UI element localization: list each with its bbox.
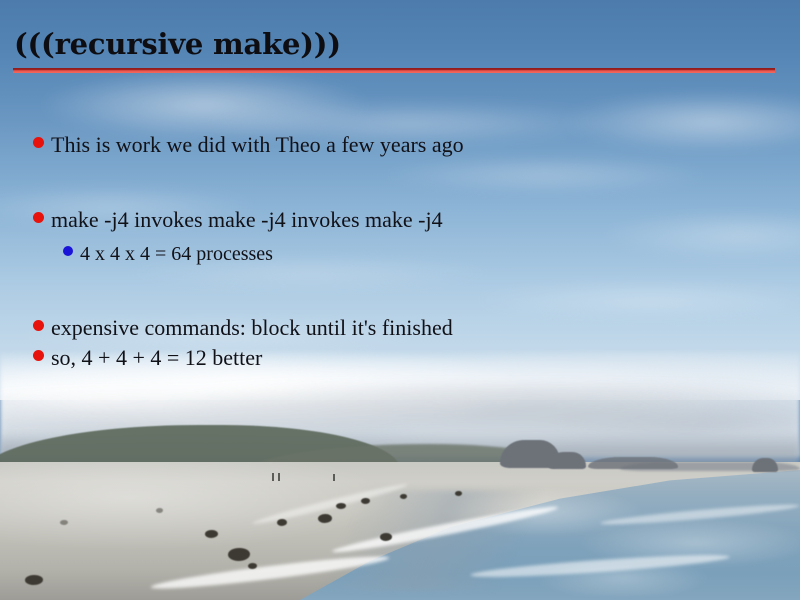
sub-bullet-label: 4 x 4 x 4 = 64 processes bbox=[80, 242, 273, 266]
bullet-label: This is work we did with Theo a few year… bbox=[51, 132, 464, 158]
bullet-item: This is work we did with Theo a few year… bbox=[33, 132, 464, 158]
bullet-dot-icon bbox=[33, 320, 44, 331]
slide-body: This is work we did with Theo a few year… bbox=[0, 0, 800, 600]
bullet-item: expensive commands: block until it's fin… bbox=[33, 315, 453, 341]
slide: (((recursive make))) This is work we did… bbox=[0, 0, 800, 600]
bullet-item: so, 4 + 4 + 4 = 12 better bbox=[33, 345, 262, 371]
bullet-item: make -j4 invokes make -j4 invokes make -… bbox=[33, 207, 443, 233]
bullet-label: so, 4 + 4 + 4 = 12 better bbox=[51, 345, 262, 371]
bullet-dot-icon bbox=[33, 350, 44, 361]
sub-bullet-item: 4 x 4 x 4 = 64 processes bbox=[63, 242, 273, 266]
bullet-label: expensive commands: block until it's fin… bbox=[51, 315, 453, 341]
sub-bullet-dot-icon bbox=[63, 246, 73, 256]
bullet-dot-icon bbox=[33, 137, 44, 148]
bullet-label: make -j4 invokes make -j4 invokes make -… bbox=[51, 207, 443, 233]
bullet-dot-icon bbox=[33, 212, 44, 223]
